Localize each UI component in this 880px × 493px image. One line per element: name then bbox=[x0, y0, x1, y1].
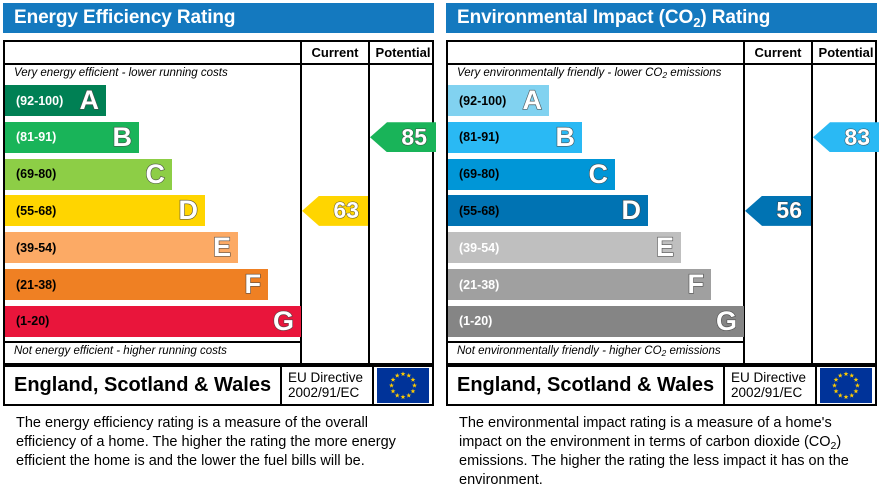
description-right: The environmental impact rating is a mea… bbox=[459, 414, 869, 489]
caption-bottom-right: Not environmentally friendly - higher CO… bbox=[457, 345, 721, 357]
band-g: (1-20)G bbox=[448, 306, 744, 337]
header-potential-right: Potential bbox=[813, 42, 879, 63]
band-b: (81-91)B bbox=[5, 122, 139, 153]
header-potential-left: Potential bbox=[370, 42, 436, 63]
footer-region-left: England, Scotland & Wales bbox=[5, 374, 280, 397]
band-a: (92-100)A bbox=[448, 85, 549, 116]
current-rating-arrow: 56 bbox=[745, 196, 811, 226]
band-a: (92-100)A bbox=[5, 85, 106, 116]
footer-directive-right: EU Directive 2002/91/EC bbox=[723, 367, 815, 404]
band-letter-c: C bbox=[589, 161, 609, 188]
band-c: (69-80)C bbox=[448, 159, 615, 190]
band-letter-b: B bbox=[556, 124, 576, 151]
band-range-a: (92-100) bbox=[448, 94, 506, 108]
band-letter-f: F bbox=[245, 271, 262, 298]
eu-flag-left bbox=[372, 367, 432, 404]
band-range-a: (92-100) bbox=[5, 94, 63, 108]
band-letter-a: A bbox=[80, 87, 100, 114]
band-letter-e: E bbox=[213, 234, 231, 261]
band-range-f: (21-38) bbox=[448, 278, 499, 292]
band-letter-c: C bbox=[146, 161, 166, 188]
band-d: (55-68)D bbox=[5, 195, 205, 226]
band-b: (81-91)B bbox=[448, 122, 582, 153]
caption-rule-right bbox=[448, 341, 743, 343]
eu-flag-icon bbox=[377, 368, 429, 403]
directive-line-2-left: 2002/91/EC bbox=[288, 386, 372, 401]
column-divider-potential-left bbox=[368, 42, 370, 365]
band-range-d: (55-68) bbox=[5, 204, 56, 218]
energy-efficiency-title-bar: Energy Efficiency Rating bbox=[3, 3, 434, 33]
footer-bar-right: England, Scotland & Wales EU Directive 2… bbox=[446, 365, 877, 406]
column-divider-potential-right bbox=[811, 42, 813, 365]
band-letter-e: E bbox=[656, 234, 674, 261]
band-d: (55-68)D bbox=[448, 195, 648, 226]
environmental-impact-panel: Environmental Impact (CO2) Rating Curren… bbox=[443, 0, 880, 493]
band-letter-g: G bbox=[716, 308, 737, 335]
caption-rule-left bbox=[5, 341, 300, 343]
caption-top-left: Very energy efficient - lower running co… bbox=[14, 67, 228, 79]
header-current-right: Current bbox=[745, 42, 811, 63]
band-e: (39-54)E bbox=[5, 232, 238, 263]
directive-line-2-right: 2002/91/EC bbox=[731, 386, 815, 401]
epc-chart-sheet: Energy Efficiency Rating Current Potenti… bbox=[0, 0, 880, 493]
energy-efficiency-panel: Energy Efficiency Rating Current Potenti… bbox=[0, 0, 437, 493]
band-f: (21-38)F bbox=[5, 269, 268, 300]
band-letter-g: G bbox=[273, 308, 294, 335]
band-range-b: (81-91) bbox=[448, 130, 499, 144]
band-range-f: (21-38) bbox=[5, 278, 56, 292]
band-range-g: (1-20) bbox=[448, 314, 492, 328]
environmental-impact-title-bar: Environmental Impact (CO2) Rating bbox=[446, 3, 877, 33]
band-g: (1-20)G bbox=[5, 306, 301, 337]
band-letter-d: D bbox=[179, 197, 199, 224]
footer-bar-left: England, Scotland & Wales EU Directive 2… bbox=[3, 365, 434, 406]
energy-efficiency-table: Current Potential Very energy efficient … bbox=[3, 40, 434, 365]
page-title-right: Environmental Impact (CO2) Rating bbox=[457, 7, 770, 29]
caption-bottom-left: Not energy efficient - higher running co… bbox=[14, 345, 227, 357]
band-range-b: (81-91) bbox=[5, 130, 56, 144]
band-letter-b: B bbox=[113, 124, 133, 151]
band-c: (69-80)C bbox=[5, 159, 172, 190]
eu-flag-right bbox=[815, 367, 875, 404]
caption-top-right: Very environmentally friendly - lower CO… bbox=[457, 67, 721, 79]
band-range-c: (69-80) bbox=[448, 167, 499, 181]
band-range-c: (69-80) bbox=[5, 167, 56, 181]
directive-line-1-left: EU Directive bbox=[288, 371, 372, 386]
header-current-left: Current bbox=[302, 42, 368, 63]
environmental-impact-table: Current Potential Very environmentally f… bbox=[446, 40, 877, 365]
potential-rating-arrow: 85 bbox=[370, 122, 436, 152]
potential-rating-arrow: 83 bbox=[813, 122, 879, 152]
band-f: (21-38)F bbox=[448, 269, 711, 300]
band-letter-f: F bbox=[688, 271, 705, 298]
footer-region-right: England, Scotland & Wales bbox=[448, 374, 723, 397]
band-range-d: (55-68) bbox=[448, 204, 499, 218]
band-range-e: (39-54) bbox=[448, 241, 499, 255]
current-rating-arrow: 63 bbox=[302, 196, 368, 226]
band-letter-d: D bbox=[622, 197, 642, 224]
description-left: The energy efficiency rating is a measur… bbox=[16, 414, 426, 471]
directive-line-1-right: EU Directive bbox=[731, 371, 815, 386]
band-e: (39-54)E bbox=[448, 232, 681, 263]
eu-flag-icon bbox=[820, 368, 872, 403]
footer-directive-left: EU Directive 2002/91/EC bbox=[280, 367, 372, 404]
band-range-g: (1-20) bbox=[5, 314, 49, 328]
band-letter-a: A bbox=[523, 87, 543, 114]
page-title-left: Energy Efficiency Rating bbox=[14, 7, 235, 29]
band-range-e: (39-54) bbox=[5, 241, 56, 255]
